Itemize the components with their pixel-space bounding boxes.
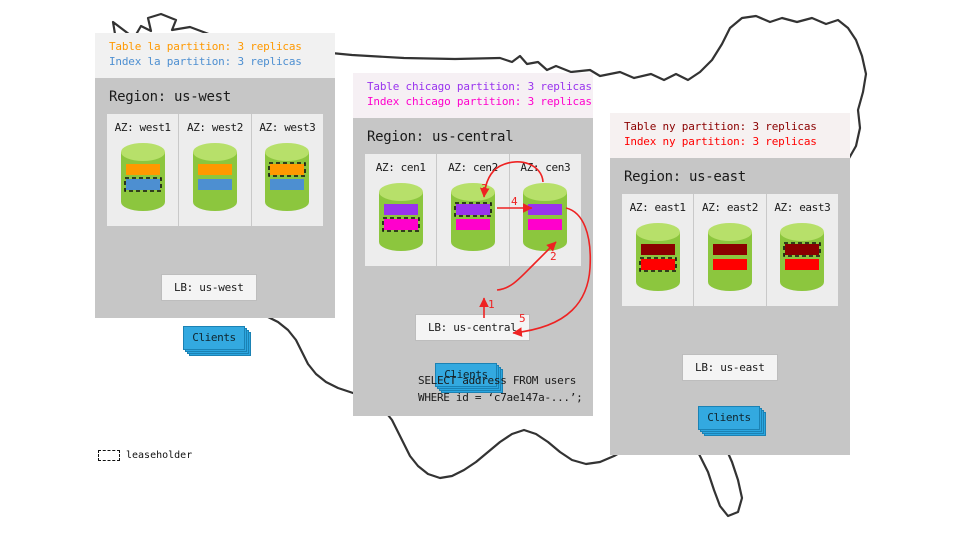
region-panel-us-west: Table la partition: 3 replicas Index la … xyxy=(95,33,335,318)
sql-query-note: SELECT address FROM users WHERE id = ‘c7… xyxy=(418,373,582,406)
az-cell-east3[interactable]: AZ: east3 xyxy=(767,194,838,306)
replica-bar-table xyxy=(528,204,562,215)
replica-bar-index xyxy=(384,219,418,230)
az-strip: AZ: west1 AZ: west2 xyxy=(107,114,323,226)
clients-us-west[interactable]: Clients xyxy=(183,326,245,350)
flow-step-label-4: 4 xyxy=(511,195,518,208)
replica-bar-table xyxy=(456,204,490,215)
cylinder-wrap xyxy=(365,180,436,256)
database-cylinder-cen2[interactable] xyxy=(447,180,499,256)
partition-banner-us-central: Table chicago partition: 3 replicas Inde… xyxy=(353,73,593,118)
replica-bar-index xyxy=(785,259,819,270)
replica-bar-table xyxy=(641,244,675,255)
region-panel-us-central: Table chicago partition: 3 replicas Inde… xyxy=(353,73,593,416)
region-panel-us-east: Table ny partition: 3 replicas Index ny … xyxy=(610,113,850,455)
replica-bar-index xyxy=(528,219,562,230)
cylinder-wrap xyxy=(437,180,508,256)
database-cylinder-east2[interactable] xyxy=(704,220,756,296)
partition-banner-us-east: Table ny partition: 3 replicas Index ny … xyxy=(610,113,850,158)
clients-us-east[interactable]: Clients xyxy=(698,406,760,430)
az-strip: AZ: cen1 AZ: cen2 xyxy=(365,154,581,266)
legend-label: leaseholder xyxy=(126,450,192,461)
region-title: Region: us-west xyxy=(95,78,335,114)
replica-bar-table xyxy=(384,204,418,215)
az-cell-cen1[interactable]: AZ: cen1 xyxy=(365,154,437,266)
az-label: AZ: cen1 xyxy=(365,161,436,174)
cylinder-wrap xyxy=(252,140,323,216)
cylinder-wrap xyxy=(622,220,693,296)
dashed-rect-icon xyxy=(98,450,120,461)
banner-line-index: Index ny partition: 3 replicas xyxy=(624,135,840,150)
banner-line-index: Index chicago partition: 3 replicas xyxy=(367,95,583,110)
load-balancer-us-central[interactable]: LB: us-central xyxy=(415,314,530,341)
cylinder-wrap xyxy=(107,140,178,216)
flow-step-label-1: 1 xyxy=(488,298,495,311)
replica-bar-table xyxy=(198,164,232,175)
database-cylinder-cen1[interactable] xyxy=(375,180,427,256)
replica-bar-table xyxy=(785,244,819,255)
replica-bar-index xyxy=(270,179,304,190)
az-strip: AZ: east1 AZ: east2 xyxy=(622,194,838,306)
banner-line-index: Index la partition: 3 replicas xyxy=(109,55,325,70)
replica-bar-index xyxy=(456,219,490,230)
legend: leaseholder xyxy=(98,450,192,461)
az-label: AZ: west2 xyxy=(179,121,250,134)
az-label: AZ: cen2 xyxy=(437,161,508,174)
region-body-us-east: Region: us-east AZ: east1 xyxy=(610,158,850,455)
az-label: AZ: cen3 xyxy=(510,161,581,174)
replica-bar-index xyxy=(198,179,232,190)
database-cylinder-east3[interactable] xyxy=(776,220,828,296)
cylinder-wrap xyxy=(510,180,581,256)
region-body-us-west: Region: us-west AZ: west1 xyxy=(95,78,335,318)
az-label: AZ: east3 xyxy=(767,201,838,214)
partition-banner-us-west: Table la partition: 3 replicas Index la … xyxy=(95,33,335,78)
region-body-us-central: Region: us-central AZ: cen1 xyxy=(353,118,593,416)
replica-bar-table xyxy=(126,164,160,175)
clients-label: Clients xyxy=(183,326,245,350)
region-title: Region: us-east xyxy=(610,158,850,194)
region-title: Region: us-central xyxy=(353,118,593,154)
cylinder-wrap xyxy=(694,220,765,296)
az-label: AZ: west1 xyxy=(107,121,178,134)
database-cylinder-west3[interactable] xyxy=(261,140,313,216)
az-cell-east1[interactable]: AZ: east1 xyxy=(622,194,694,306)
cylinder-wrap xyxy=(179,140,250,216)
flow-step-label-3: 3 xyxy=(481,182,488,195)
banner-line-table: Table chicago partition: 3 replicas xyxy=(367,80,583,95)
az-label: AZ: east1 xyxy=(622,201,693,214)
flow-step-label-5: 5 xyxy=(519,312,526,325)
az-cell-cen3[interactable]: AZ: cen3 xyxy=(510,154,581,266)
database-cylinder-west2[interactable] xyxy=(189,140,241,216)
banner-line-table: Table ny partition: 3 replicas xyxy=(624,120,840,135)
replica-bar-table xyxy=(713,244,747,255)
banner-line-table: Table la partition: 3 replicas xyxy=(109,40,325,55)
replica-bar-index xyxy=(126,179,160,190)
database-cylinder-west1[interactable] xyxy=(117,140,169,216)
flow-step-label-2: 2 xyxy=(550,250,557,263)
replica-bar-index xyxy=(641,259,675,270)
az-cell-cen2[interactable]: AZ: cen2 xyxy=(437,154,509,266)
az-cell-west1[interactable]: AZ: west1 xyxy=(107,114,179,226)
replica-bar-table xyxy=(270,164,304,175)
load-balancer-us-east[interactable]: LB: us-east xyxy=(682,354,778,381)
az-label: AZ: west3 xyxy=(252,121,323,134)
clients-label: Clients xyxy=(698,406,760,430)
database-cylinder-cen3[interactable] xyxy=(519,180,571,256)
replica-bar-index xyxy=(713,259,747,270)
cylinder-wrap xyxy=(767,220,838,296)
az-label: AZ: east2 xyxy=(694,201,765,214)
database-cylinder-east1[interactable] xyxy=(632,220,684,296)
diagram-canvas: Table la partition: 3 replicas Index la … xyxy=(0,0,960,540)
load-balancer-us-west[interactable]: LB: us-west xyxy=(161,274,257,301)
az-cell-west2[interactable]: AZ: west2 xyxy=(179,114,251,226)
az-cell-west3[interactable]: AZ: west3 xyxy=(252,114,323,226)
az-cell-east2[interactable]: AZ: east2 xyxy=(694,194,766,306)
